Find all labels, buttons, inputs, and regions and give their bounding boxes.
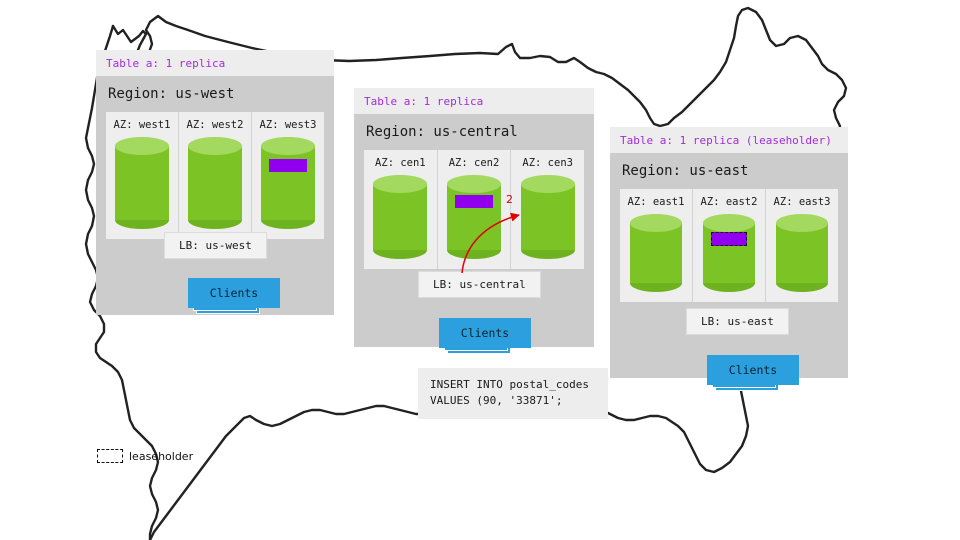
region-title-us-west: Region: us-west: [108, 86, 324, 102]
range-replica-cen2: [455, 195, 493, 208]
cylinder-body: [776, 223, 828, 283]
cylinder-body: [447, 184, 501, 250]
az-label-east1: AZ: east1: [628, 196, 685, 208]
clients-button-us-west[interactable]: Clients: [188, 278, 280, 308]
arrow-step-number: 2: [506, 193, 513, 206]
node-cylinder-east2[interactable]: [703, 214, 755, 292]
az-label-west1: AZ: west1: [114, 119, 171, 131]
clients-button-us-east[interactable]: Clients: [707, 355, 799, 385]
az-cell-cen1[interactable]: AZ: cen1: [364, 150, 437, 269]
node-cylinder-west3[interactable]: [261, 137, 315, 229]
node-cylinder-cen3[interactable]: [521, 175, 575, 259]
cylinder-top: [776, 214, 828, 232]
region-panel-us-central: Table a: 1 replica Region: us-central AZ…: [354, 88, 594, 347]
legend-label: leaseholder: [129, 450, 193, 463]
legend-leaseholder: leaseholder: [97, 449, 193, 463]
az-cell-east3[interactable]: AZ: east3: [765, 189, 838, 302]
node-cylinder-cen1[interactable]: [373, 175, 427, 259]
az-label-west2: AZ: west2: [187, 119, 244, 131]
node-cylinder-east3[interactable]: [776, 214, 828, 292]
az-label-west3: AZ: west3: [260, 119, 317, 131]
cylinder-body: [188, 146, 242, 220]
diagram-canvas: 2 Table a: 1 replica Region: us-west AZ:…: [0, 0, 960, 540]
clients-us-east[interactable]: Clients: [707, 355, 799, 385]
cylinder-top: [188, 137, 242, 155]
clients-button-us-central[interactable]: Clients: [439, 318, 531, 348]
cylinder-top: [115, 137, 169, 155]
az-label-east2: AZ: east2: [701, 196, 758, 208]
region-title-us-east: Region: us-east: [622, 163, 838, 179]
load-balancer-us-west[interactable]: LB: us-west: [164, 232, 267, 259]
node-cylinder-east1[interactable]: [630, 214, 682, 292]
node-cylinder-west2[interactable]: [188, 137, 242, 229]
clients-us-west[interactable]: Clients: [188, 278, 280, 308]
clients-us-central[interactable]: Clients: [439, 318, 531, 348]
region-body-us-central: Region: us-central AZ: cen1 AZ: cen2: [354, 114, 594, 347]
cylinder-body: [261, 146, 315, 220]
region-panel-us-west: Table a: 1 replica Region: us-west AZ: w…: [96, 50, 334, 315]
range-leaseholder-east2: [711, 232, 747, 246]
region-panel-us-east: Table a: 1 replica (leaseholder) Region:…: [610, 127, 848, 378]
range-replica-west3: [269, 159, 307, 172]
node-cylinder-west1[interactable]: [115, 137, 169, 229]
az-label-cen1: AZ: cen1: [375, 157, 426, 169]
az-label-cen2: AZ: cen2: [449, 157, 500, 169]
az-cell-east1[interactable]: AZ: east1: [620, 189, 692, 302]
az-cell-west3[interactable]: AZ: west3: [251, 112, 324, 239]
replica-status-us-central: Table a: 1 replica: [354, 88, 594, 114]
cylinder-top: [447, 175, 501, 193]
cylinder-top: [261, 137, 315, 155]
az-row-us-central: AZ: cen1 AZ: cen2: [364, 150, 584, 269]
node-cylinder-cen2[interactable]: [447, 175, 501, 259]
cylinder-top: [703, 214, 755, 232]
replica-status-us-west: Table a: 1 replica: [96, 50, 334, 76]
cylinder-body: [521, 184, 575, 250]
cylinder-body: [630, 223, 682, 283]
sql-statement-note: INSERT INTO postal_codes VALUES (90, '33…: [418, 368, 608, 419]
az-cell-west2[interactable]: AZ: west2: [178, 112, 251, 239]
az-label-cen3: AZ: cen3: [522, 157, 573, 169]
region-title-us-central: Region: us-central: [366, 124, 584, 140]
cylinder-body: [373, 184, 427, 250]
az-row-us-west: AZ: west1 AZ: west2: [106, 112, 324, 239]
az-label-east3: AZ: east3: [774, 196, 831, 208]
region-body-us-east: Region: us-east AZ: east1 AZ: east2: [610, 153, 848, 378]
az-cell-east2[interactable]: AZ: east2: [692, 189, 765, 302]
az-cell-cen2[interactable]: AZ: cen2: [437, 150, 511, 269]
leaseholder-swatch-icon: [97, 449, 123, 463]
load-balancer-us-central[interactable]: LB: us-central: [418, 271, 541, 298]
az-row-us-east: AZ: east1 AZ: east2: [620, 189, 838, 302]
az-cell-cen3[interactable]: AZ: cen3: [510, 150, 584, 269]
load-balancer-us-east[interactable]: LB: us-east: [686, 308, 789, 335]
az-cell-west1[interactable]: AZ: west1: [106, 112, 178, 239]
cylinder-top: [521, 175, 575, 193]
cylinder-top: [373, 175, 427, 193]
cylinder-body: [115, 146, 169, 220]
cylinder-top: [630, 214, 682, 232]
replica-status-us-east: Table a: 1 replica (leaseholder): [610, 127, 848, 153]
